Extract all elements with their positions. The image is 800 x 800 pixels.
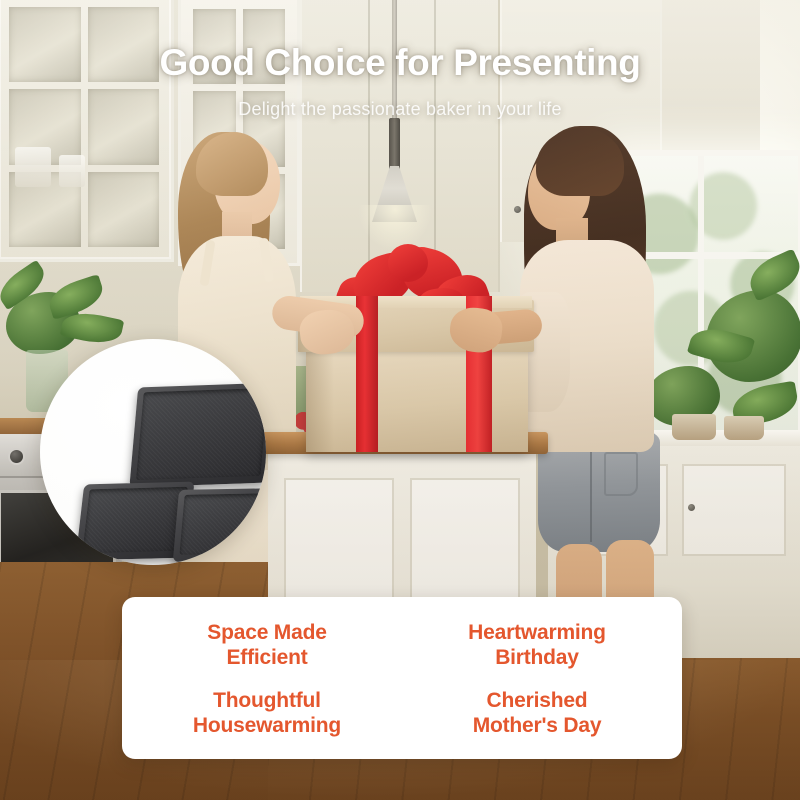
feature-heartwarming-birthday: Heartwarming Birthday bbox=[468, 620, 606, 670]
product-inset-circle[interactable] bbox=[40, 339, 266, 565]
oven-knob-icon bbox=[8, 448, 25, 465]
cabinet-dishes bbox=[15, 147, 51, 187]
baking-sheet-large bbox=[129, 383, 266, 488]
baking-sheet-surface bbox=[179, 493, 266, 555]
baking-sheet-small bbox=[173, 488, 266, 562]
shorts-seam bbox=[590, 446, 592, 542]
glass-cabinet-left bbox=[0, 0, 174, 262]
feature-card: Space Made Efficient Heartwarming Birthd… bbox=[122, 597, 682, 759]
feature-thoughtful-housewarming: Thoughtful Housewarming bbox=[193, 688, 341, 738]
cabinet-knob-icon bbox=[514, 206, 521, 213]
hair-front bbox=[196, 132, 268, 196]
cabinet-door bbox=[682, 464, 786, 556]
baking-sheet-surface bbox=[82, 487, 188, 554]
cabinet-dishes bbox=[59, 155, 85, 187]
gift-box-shading bbox=[306, 348, 334, 452]
pendant-lamp-glow bbox=[358, 205, 432, 251]
page-subtitle: Delight the passionate baker in your lif… bbox=[0, 99, 800, 120]
baking-sheet-surface bbox=[136, 388, 266, 480]
gift-box-base bbox=[306, 348, 528, 452]
shorts-pocket bbox=[604, 452, 638, 496]
pendant-lamp-neck bbox=[389, 118, 400, 170]
cabinet-knob-icon bbox=[688, 504, 695, 511]
plant-pot bbox=[672, 414, 716, 440]
glass-pane bbox=[88, 172, 160, 247]
page-title: Good Choice for Presenting bbox=[0, 42, 800, 84]
feature-cherished-mothers-day: Cherished Mother's Day bbox=[473, 688, 602, 738]
ribbon-bow-center bbox=[388, 244, 428, 282]
plant-pot bbox=[724, 416, 764, 440]
product-lifestyle-banner: Good Choice for Presenting Delight the p… bbox=[0, 0, 800, 800]
hair-front bbox=[536, 128, 624, 196]
feature-space-made-efficient: Space Made Efficient bbox=[207, 620, 326, 670]
